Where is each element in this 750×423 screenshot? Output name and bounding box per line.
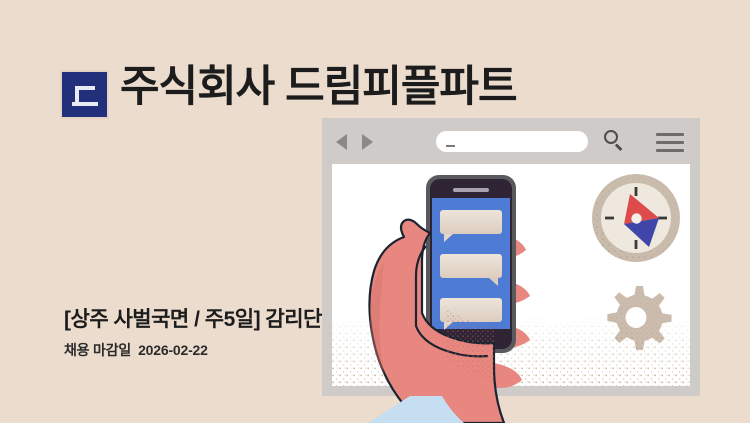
compass-tick-s: [635, 240, 638, 249]
hamburger-bar: [656, 149, 684, 152]
browser-content-area: [332, 164, 690, 386]
company-logo-icon: [60, 70, 109, 119]
url-text-caret: [446, 145, 455, 147]
search-icon-handle: [615, 143, 622, 150]
compass-tick-w: [605, 217, 614, 220]
deadline-label: 채용 마감일: [64, 342, 131, 358]
company-name-title: 주식회사 드림피플파트: [120, 66, 517, 109]
compass-icon: [590, 172, 682, 264]
search-icon-ring: [604, 130, 618, 144]
poster-canvas: 주식회사 드림피플파트 [상주 사벌국면 / 주5일] 감리단 채용 마감일20…: [0, 0, 750, 423]
compass-pivot: [631, 213, 641, 223]
browser-window-illustration: [322, 118, 700, 396]
nav-back-arrow-icon[interactable]: [336, 134, 347, 150]
compass-tick-e: [658, 217, 667, 220]
job-posting-title: [상주 사벌국면 / 주5일] 감리단: [64, 303, 322, 333]
nav-forward-arrow-icon[interactable]: [362, 134, 373, 150]
korean-digeut-glyph: [75, 86, 97, 106]
browser-toolbar: [322, 118, 700, 164]
application-deadline: 채용 마감일2026-02-22: [64, 340, 208, 360]
digeut-bottom-stroke: [72, 102, 98, 106]
gear-icon: [596, 282, 676, 362]
hamburger-bar: [656, 141, 684, 144]
sleeve: [368, 396, 464, 423]
search-magnifier-icon[interactable]: [604, 130, 628, 154]
deadline-date: 2026-02-22: [138, 342, 208, 358]
gear-speckle: [596, 282, 676, 362]
hamburger-bar: [656, 133, 684, 136]
compass-tick-n: [635, 187, 638, 196]
hamburger-menu-icon[interactable]: [656, 133, 684, 151]
url-input[interactable]: [436, 131, 588, 152]
